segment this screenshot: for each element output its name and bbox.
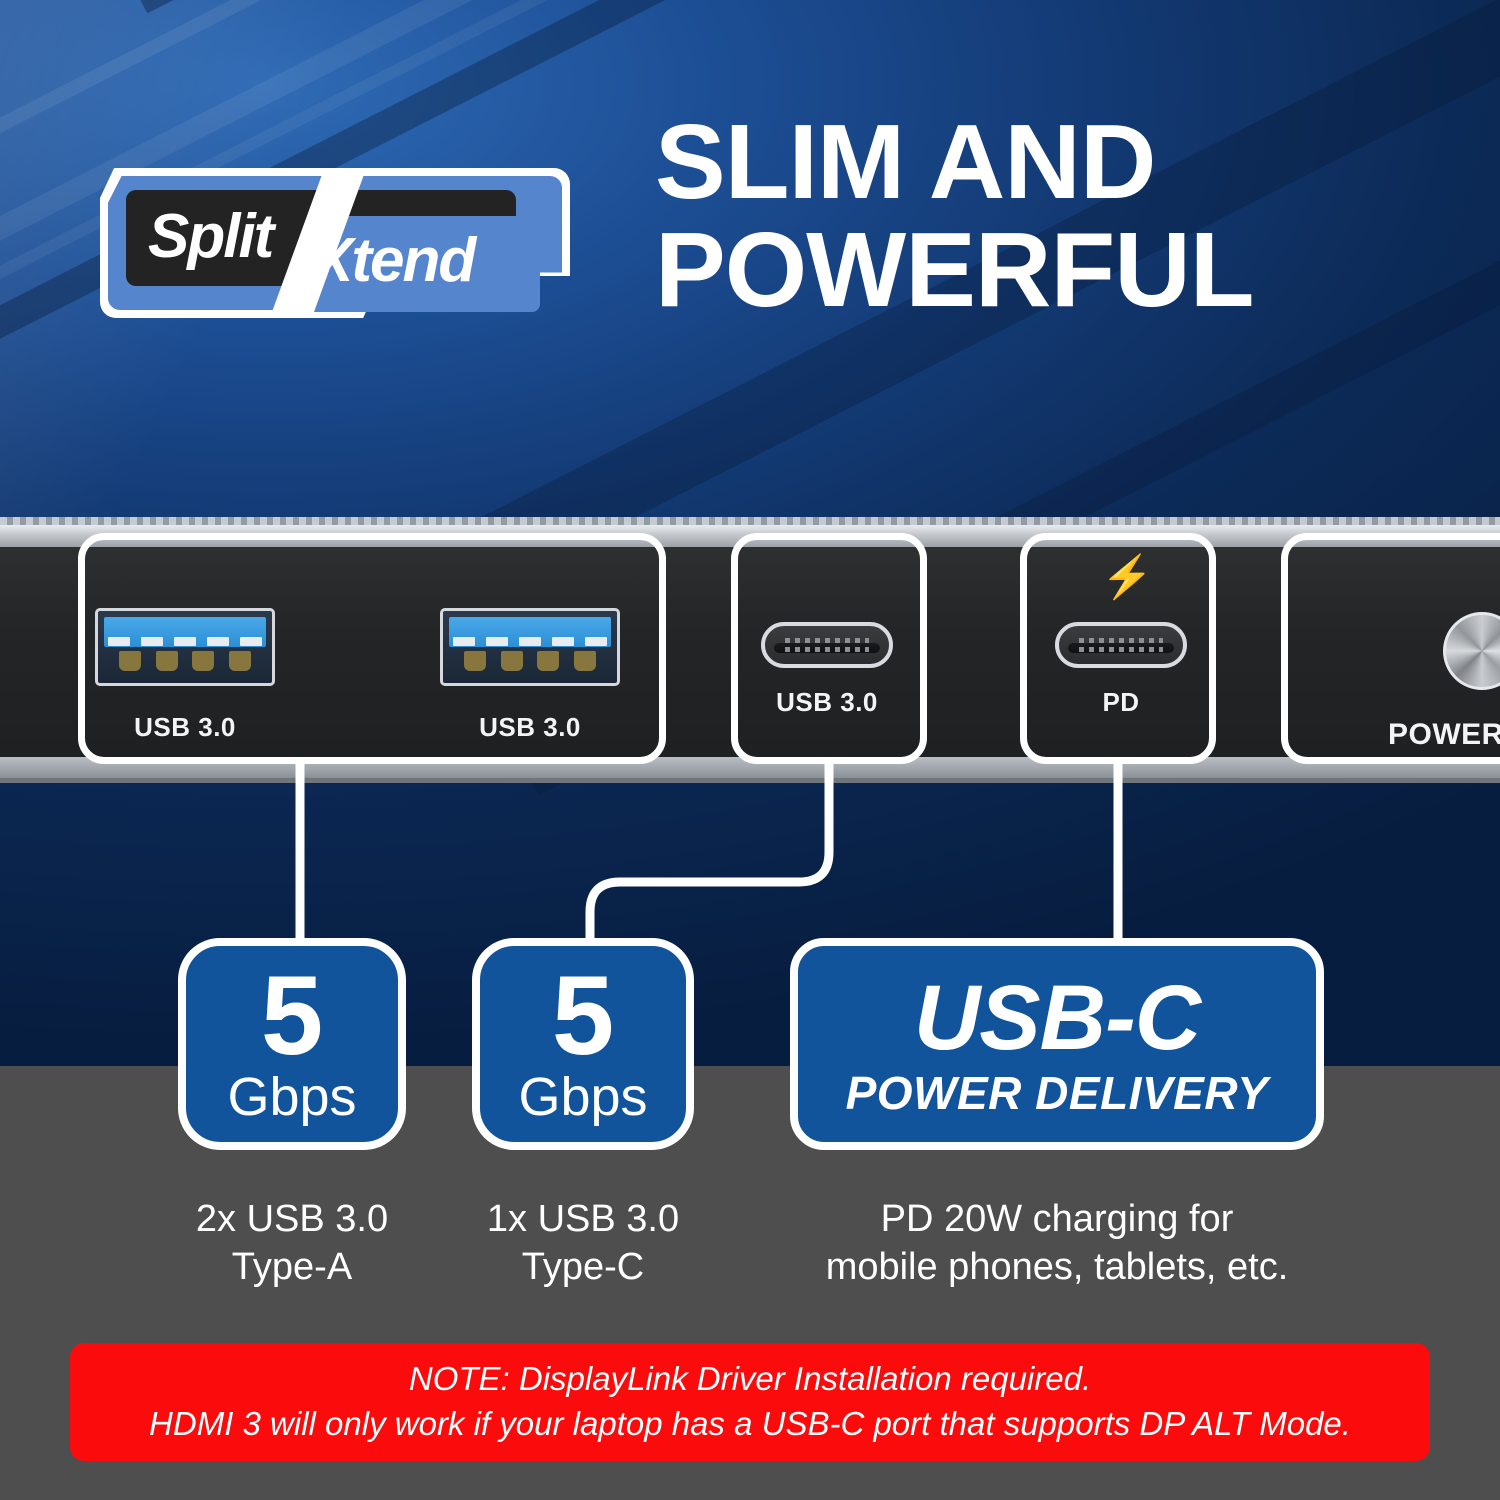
usb-c-data-port[interactable] xyxy=(761,622,893,668)
usb-c-pins-bottom xyxy=(1079,647,1163,652)
logo-word-split: Split xyxy=(148,206,272,268)
usb-a-port-1-label: USB 3.0 xyxy=(95,712,275,743)
usb-a-contacts xyxy=(457,651,603,673)
badge-usb-a-value: 5 xyxy=(261,964,323,1067)
caption-usb-c-line2: Type-C xyxy=(438,1244,728,1292)
badge-usb-c-speed: 5 Gbps xyxy=(472,938,694,1150)
badge-usb-c-unit: Gbps xyxy=(518,1070,647,1124)
usb-a-port-2-label: USB 3.0 xyxy=(440,712,620,743)
usb-a-port-2[interactable] xyxy=(440,608,620,686)
usb-c-pd-port[interactable] xyxy=(1055,622,1187,668)
caption-usb-c: 1x USB 3.0 Type-C xyxy=(438,1196,728,1292)
caption-pd-line1: PD 20W charging for xyxy=(780,1196,1334,1244)
usb-a-port-1[interactable] xyxy=(95,608,275,686)
device-bottom-rail xyxy=(0,757,1500,783)
device-top-rail xyxy=(0,525,1500,547)
page-title-line1: SLIM AND xyxy=(655,108,1455,216)
note-banner: NOTE: DisplayLink Driver Installation re… xyxy=(70,1343,1430,1461)
badge-pd-title: USB-C xyxy=(914,972,1200,1064)
logo-word-xtend: Xtend xyxy=(312,230,474,292)
usb-c-pins-top xyxy=(1079,638,1163,643)
page-title: SLIM AND POWERFUL xyxy=(655,108,1455,324)
page-title-line2: POWERFUL xyxy=(655,216,1455,324)
badge-usb-a-speed: 5 Gbps xyxy=(178,938,406,1150)
badge-pd-subtitle: POWER DELIVERY xyxy=(846,1070,1269,1116)
usb-c-data-port-label: USB 3.0 xyxy=(761,687,893,718)
usb-c-pins-bottom xyxy=(785,647,869,652)
usb-a-contacts xyxy=(112,651,258,673)
badge-usb-c-power-delivery: USB-C POWER DELIVERY xyxy=(790,938,1324,1150)
note-line2: HDMI 3 will only work if your laptop has… xyxy=(149,1402,1351,1447)
caption-usb-a-line1: 2x USB 3.0 xyxy=(140,1196,444,1244)
usb-a-pins xyxy=(108,637,262,647)
caption-usb-a: 2x USB 3.0 Type-A xyxy=(140,1196,444,1292)
usb-a-pins xyxy=(453,637,607,647)
caption-pd-line2: mobile phones, tablets, etc. xyxy=(780,1244,1334,1292)
badge-usb-a-unit: Gbps xyxy=(227,1070,356,1124)
lightning-bolt-icon: ⚡ xyxy=(1101,556,1153,598)
note-line1: NOTE: DisplayLink Driver Installation re… xyxy=(409,1357,1091,1402)
power-button-label: POWER O xyxy=(1388,718,1500,752)
usb-c-pins-top xyxy=(785,638,869,643)
infographic-canvas: USB 3.0 USB 3.0 USB 3.0 ⚡ PD POWER O 5 xyxy=(0,0,1500,1500)
caption-usb-a-line2: Type-A xyxy=(140,1244,444,1292)
usb-c-pd-port-label: PD xyxy=(1055,687,1187,718)
caption-usb-c-line1: 1x USB 3.0 xyxy=(438,1196,728,1244)
brand-logo: Split Xtend xyxy=(100,168,570,318)
badge-usb-c-value: 5 xyxy=(552,964,614,1067)
caption-pd: PD 20W charging for mobile phones, table… xyxy=(780,1196,1334,1292)
